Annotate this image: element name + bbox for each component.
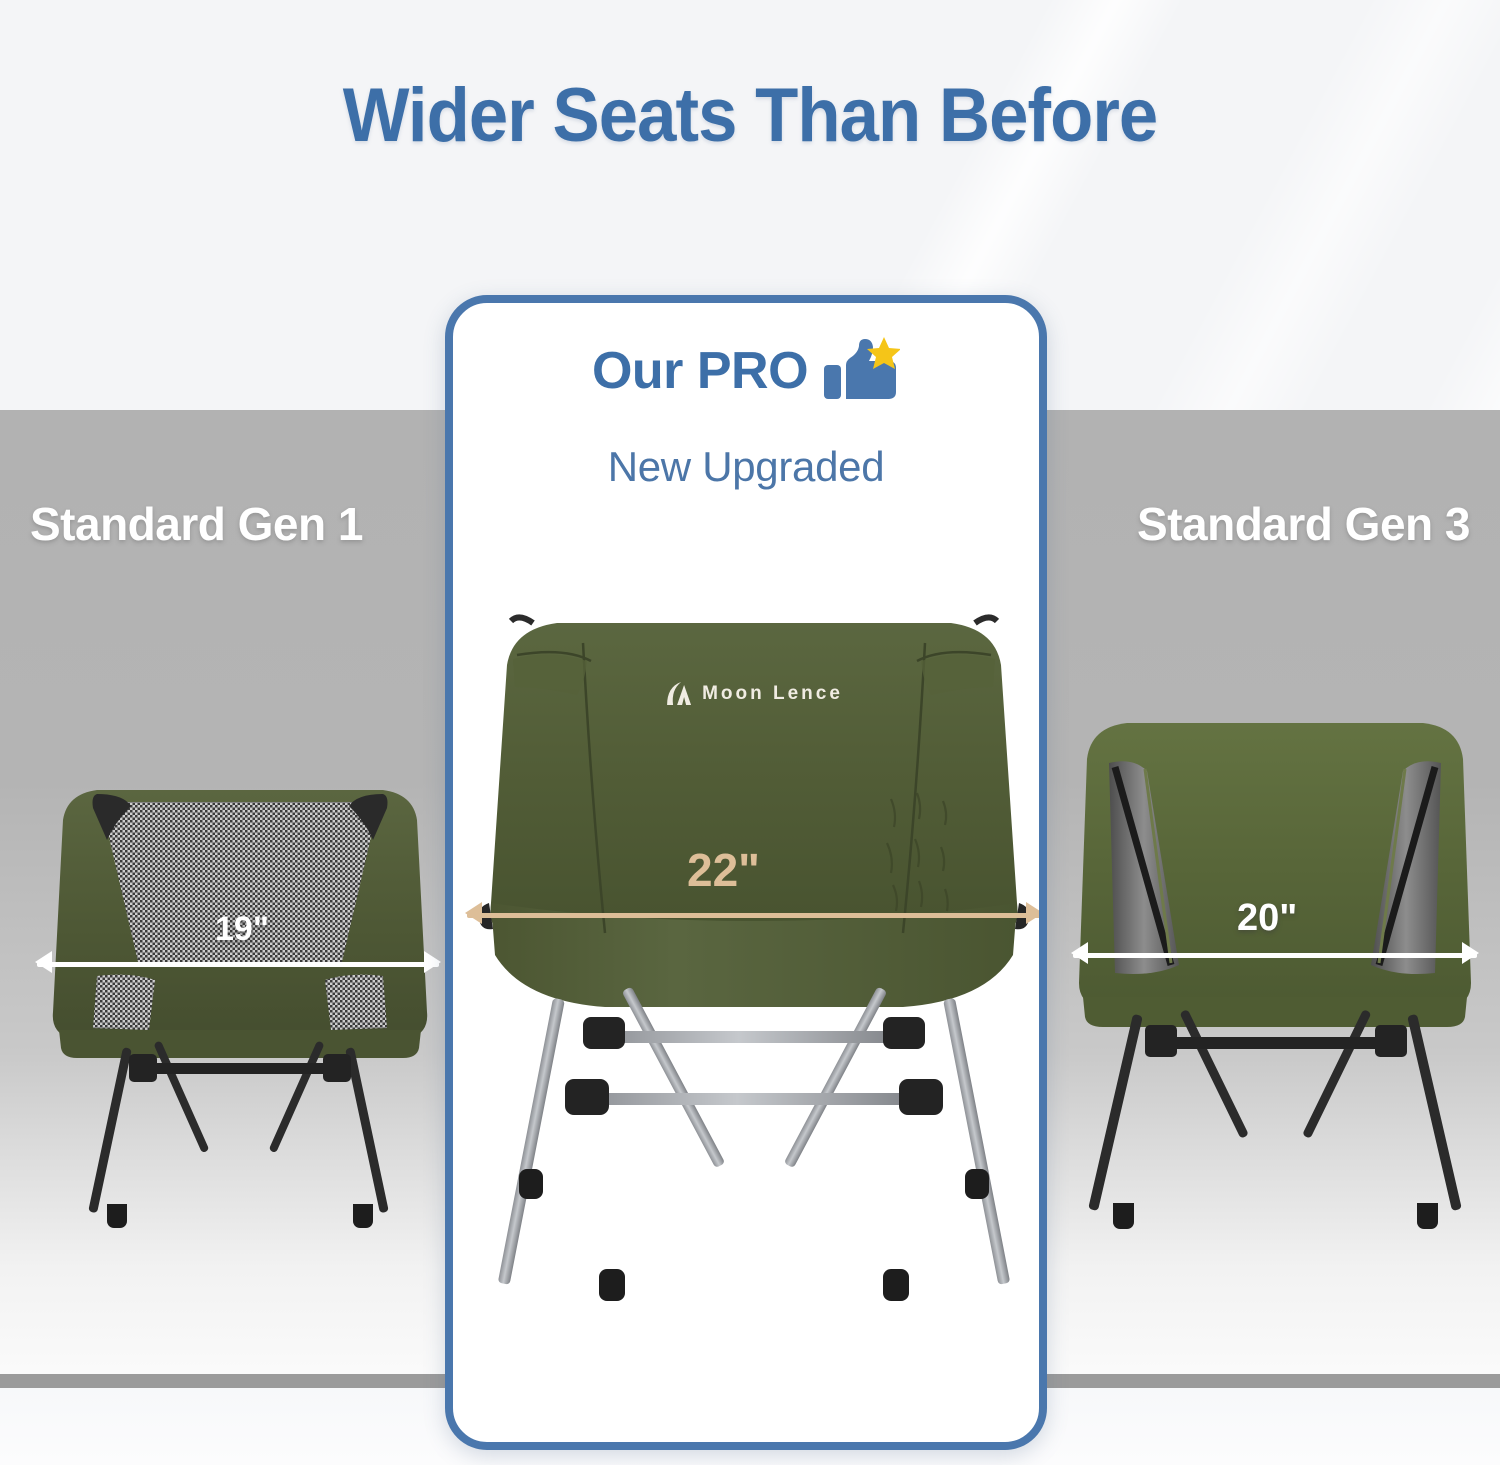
gen3-arrow-head-right: [1462, 942, 1479, 964]
gen3-crossbar: [1157, 1037, 1395, 1049]
pro-hub-upper-right: [883, 1017, 925, 1049]
gen1-leg-front-left: [88, 1047, 132, 1213]
gen1-hub-left: [129, 1054, 157, 1082]
chair-standard-gen-3: 20": [1075, 715, 1475, 1255]
page-title: Wider Seats Than Before: [53, 72, 1448, 159]
pro-leg-front-left: [498, 998, 565, 1285]
moon-lence-logo-icon: [665, 681, 695, 707]
pro-hub-lower-right: [899, 1079, 943, 1115]
gen1-arrow-head-right: [424, 951, 441, 973]
gen1-foot-left: [107, 1204, 127, 1228]
gen3-arrow-head-left: [1071, 942, 1088, 964]
gen1-hub-right: [323, 1054, 351, 1082]
pro-arrow-head-right: [1026, 902, 1043, 924]
pro-card-title: Our PRO: [592, 341, 808, 401]
pro-foot-back-left: [519, 1169, 543, 1199]
chair-standard-gen-1: 19": [45, 780, 435, 1250]
pro-product-card: Our PRO New Upgraded: [445, 295, 1047, 1450]
gen3-hub-left: [1145, 1025, 1177, 1057]
gen1-crossbar: [137, 1063, 343, 1074]
pro-leg-front-right: [943, 998, 1010, 1285]
gen3-arrow-bar: [1073, 953, 1477, 958]
gen1-arrow-bar: [37, 962, 439, 967]
pro-hub-upper-left: [583, 1017, 625, 1049]
gen3-foot-right: [1417, 1203, 1438, 1229]
pro-crossbar-upper: [601, 1031, 907, 1043]
gen1-foot-right: [353, 1204, 373, 1228]
pro-card-header: Our PRO: [453, 337, 1039, 405]
gen3-hub-right: [1375, 1025, 1407, 1057]
brand-logo: Moon Lence: [665, 681, 843, 707]
pro-crossbar-lower: [585, 1093, 923, 1105]
pro-foot-back-right: [965, 1169, 989, 1199]
label-standard-gen-1: Standard Gen 1: [30, 497, 363, 551]
pro-foot-front-left: [599, 1269, 625, 1301]
pro-arrow-head-left: [465, 902, 482, 924]
pro-seat-svg: [473, 603, 1035, 1033]
label-standard-gen-3: Standard Gen 3: [1137, 497, 1470, 551]
gen1-measurement-label: 19": [215, 910, 269, 949]
pro-arrow-bar: [467, 913, 1041, 918]
brand-logo-text: Moon Lence: [702, 683, 843, 705]
thumbs-up-icon: [822, 337, 900, 405]
gen3-foot-left: [1113, 1203, 1134, 1229]
pro-card-subtitle: New Upgraded: [453, 443, 1039, 491]
pro-measurement-label: 22": [687, 843, 760, 897]
chair-our-pro: Moon Lence 22": [473, 603, 1035, 1363]
pro-foot-front-right: [883, 1269, 909, 1301]
pro-hub-lower-left: [565, 1079, 609, 1115]
gen3-measurement-label: 20": [1237, 897, 1297, 940]
gen1-arrow-head-left: [35, 951, 52, 973]
gen3-seat-svg: [1075, 715, 1475, 1045]
gen1-leg-front-right: [345, 1047, 389, 1213]
